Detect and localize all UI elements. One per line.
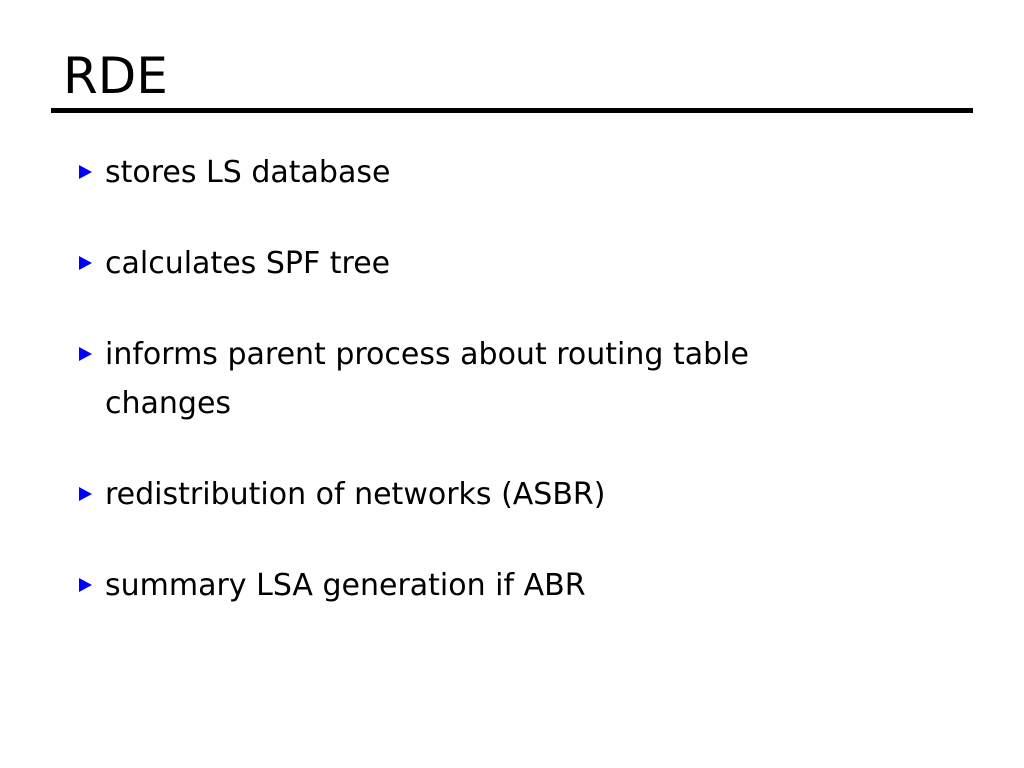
slide-title-block: RDE xyxy=(51,48,973,113)
list-item: summary LSA generation if ABR xyxy=(79,561,845,610)
list-item-label: calculates SPF tree xyxy=(105,239,845,288)
title-divider xyxy=(51,108,973,113)
presentation-slide: RDE stores LS database calculates SPF tr… xyxy=(0,0,1024,768)
triangle-right-icon xyxy=(79,256,92,270)
triangle-right-icon xyxy=(79,347,92,361)
triangle-right-icon xyxy=(79,578,92,592)
list-item: redistribution of networks (ASBR) xyxy=(79,470,845,519)
triangle-right-icon xyxy=(79,487,92,501)
list-item: stores LS database xyxy=(79,148,845,197)
list-item-label: summary LSA generation if ABR xyxy=(105,561,845,610)
list-item-label: stores LS database xyxy=(105,148,845,197)
triangle-right-icon xyxy=(79,165,92,179)
list-item-label: informs parent process about routing tab… xyxy=(105,330,845,428)
list-item: calculates SPF tree xyxy=(79,239,845,288)
list-item: informs parent process about routing tab… xyxy=(79,330,845,428)
page-title: RDE xyxy=(51,48,973,104)
bullet-list: stores LS database calculates SPF tree i… xyxy=(79,148,959,610)
list-item-label: redistribution of networks (ASBR) xyxy=(105,470,845,519)
